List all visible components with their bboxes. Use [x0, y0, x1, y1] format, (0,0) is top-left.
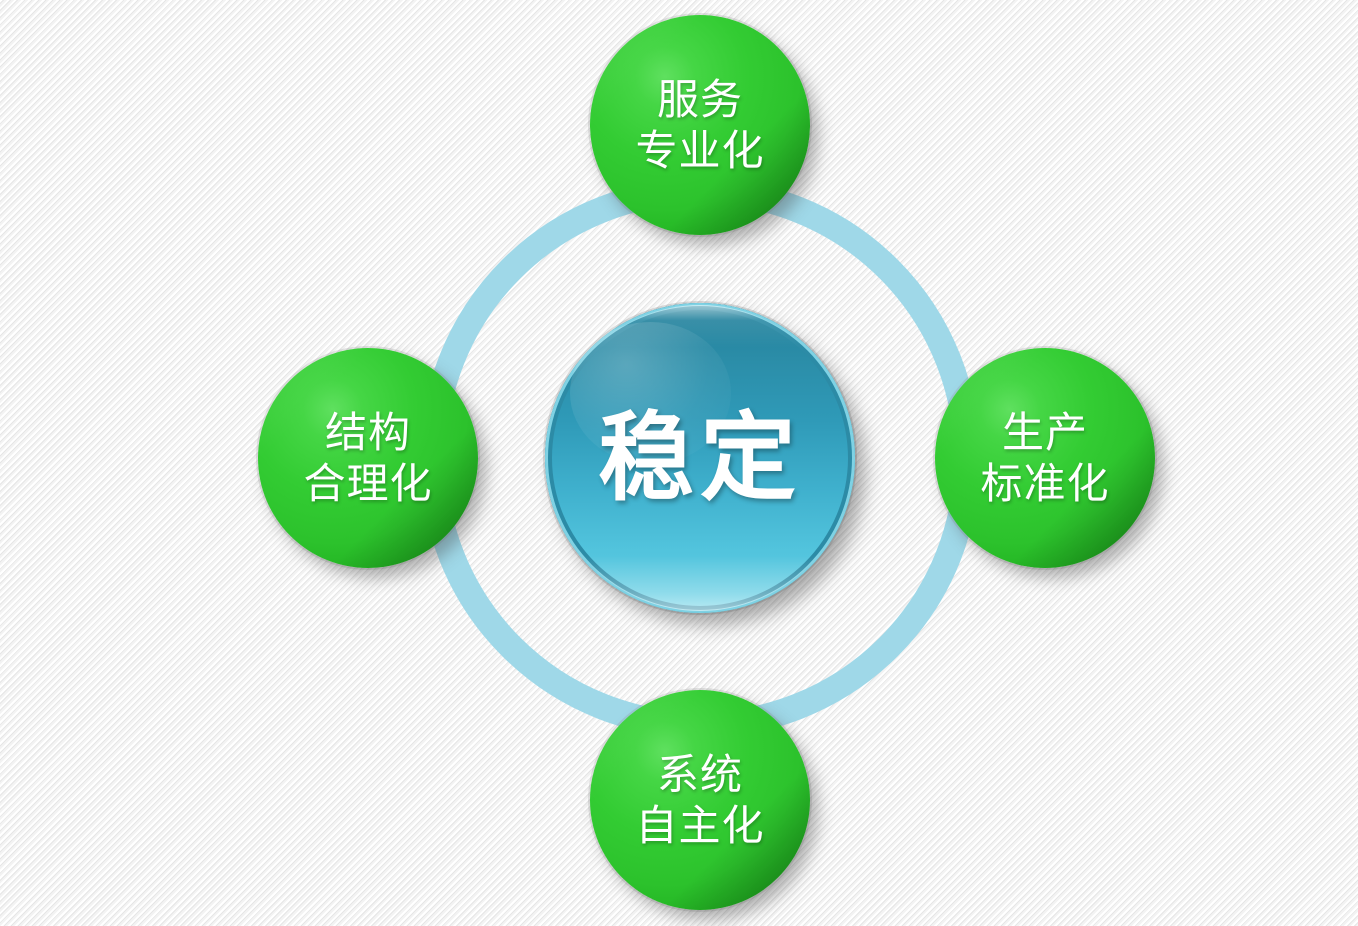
node-left-label: 结构 合理化: [258, 348, 478, 568]
center-hub[interactable]: 稳定: [545, 303, 855, 613]
node-bottom-label-line1: 系统: [657, 749, 743, 800]
node-top-label: 服务 专业化: [590, 15, 810, 235]
node-bottom-label-line2: 自主化: [635, 800, 764, 851]
node-right-label-line2: 标准化: [980, 458, 1109, 509]
node-top-label-line2: 专业化: [635, 125, 764, 176]
node-service-professionalization[interactable]: 服务 专业化: [590, 15, 810, 235]
node-right-label: 生产 标准化: [935, 348, 1155, 568]
center-hub-label: 稳定: [545, 303, 855, 613]
node-top-label-line1: 服务: [657, 74, 743, 125]
node-system-autonomy[interactable]: 系统 自主化: [590, 690, 810, 910]
diagram-canvas: 稳定 服务 专业化 生产 标准化 系统 自主化 结构 合理化: [0, 0, 1358, 926]
node-left-label-line1: 结构: [325, 407, 411, 458]
node-right-label-line1: 生产: [1002, 407, 1088, 458]
node-structure-rationalization[interactable]: 结构 合理化: [258, 348, 478, 568]
node-production-standardization[interactable]: 生产 标准化: [935, 348, 1155, 568]
node-bottom-label: 系统 自主化: [590, 690, 810, 910]
node-left-label-line2: 合理化: [303, 458, 432, 509]
